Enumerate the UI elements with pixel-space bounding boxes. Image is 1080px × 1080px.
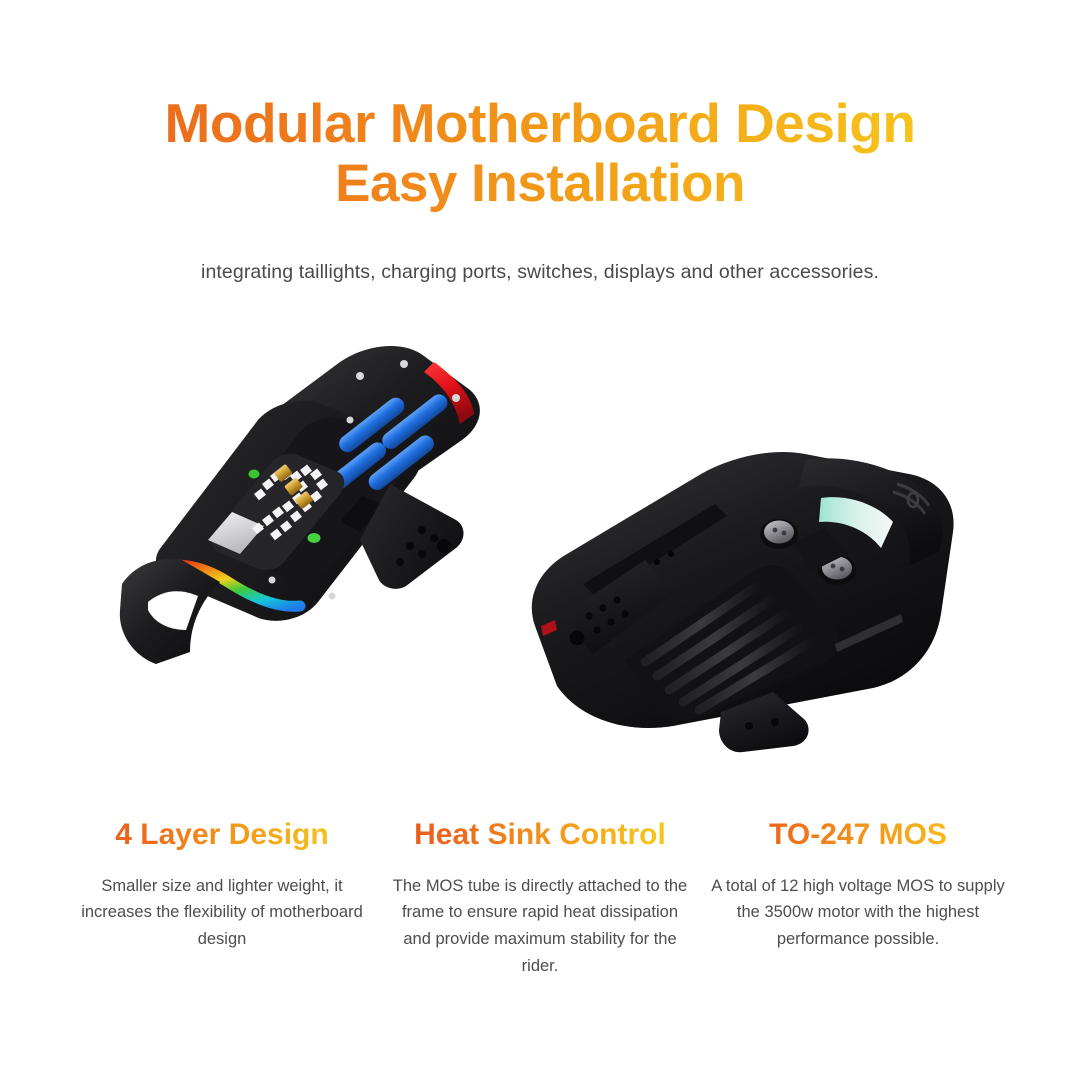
page-title-line-1: Modular Motherboard Design (0, 92, 1080, 154)
page-title-line-2: Easy Installation (0, 154, 1080, 214)
feature-body-1: Smaller size and lighter weight, it incr… (72, 873, 372, 953)
feature-columns: 4 Layer Design Smaller size and lighter … (72, 818, 1008, 979)
feature-body-3: A total of 12 high voltage MOS to supply… (708, 873, 1008, 953)
page-title: Modular Motherboard Design Easy Installa… (0, 92, 1080, 214)
feature-title-1: 4 Layer Design (72, 818, 372, 853)
product-feature-page: Modular Motherboard Design Easy Installa… (0, 0, 1080, 1080)
product-image-stage (0, 330, 1080, 790)
product-image-right-underside (505, 430, 995, 760)
feature-title-2: Heat Sink Control (390, 818, 690, 853)
feature-column-2: Heat Sink Control The MOS tube is direct… (390, 818, 690, 979)
charging-port-1 (764, 521, 794, 544)
product-image-left-open-deck (104, 334, 524, 684)
feature-body-2: The MOS tube is directly attached to the… (390, 873, 690, 980)
feature-column-1: 4 Layer Design Smaller size and lighter … (72, 818, 372, 979)
page-subtitle: integrating taillights, charging ports, … (0, 261, 1080, 284)
feature-title-3: TO-247 MOS (708, 818, 1008, 853)
feature-column-3: TO-247 MOS A total of 12 high voltage MO… (708, 818, 1008, 979)
